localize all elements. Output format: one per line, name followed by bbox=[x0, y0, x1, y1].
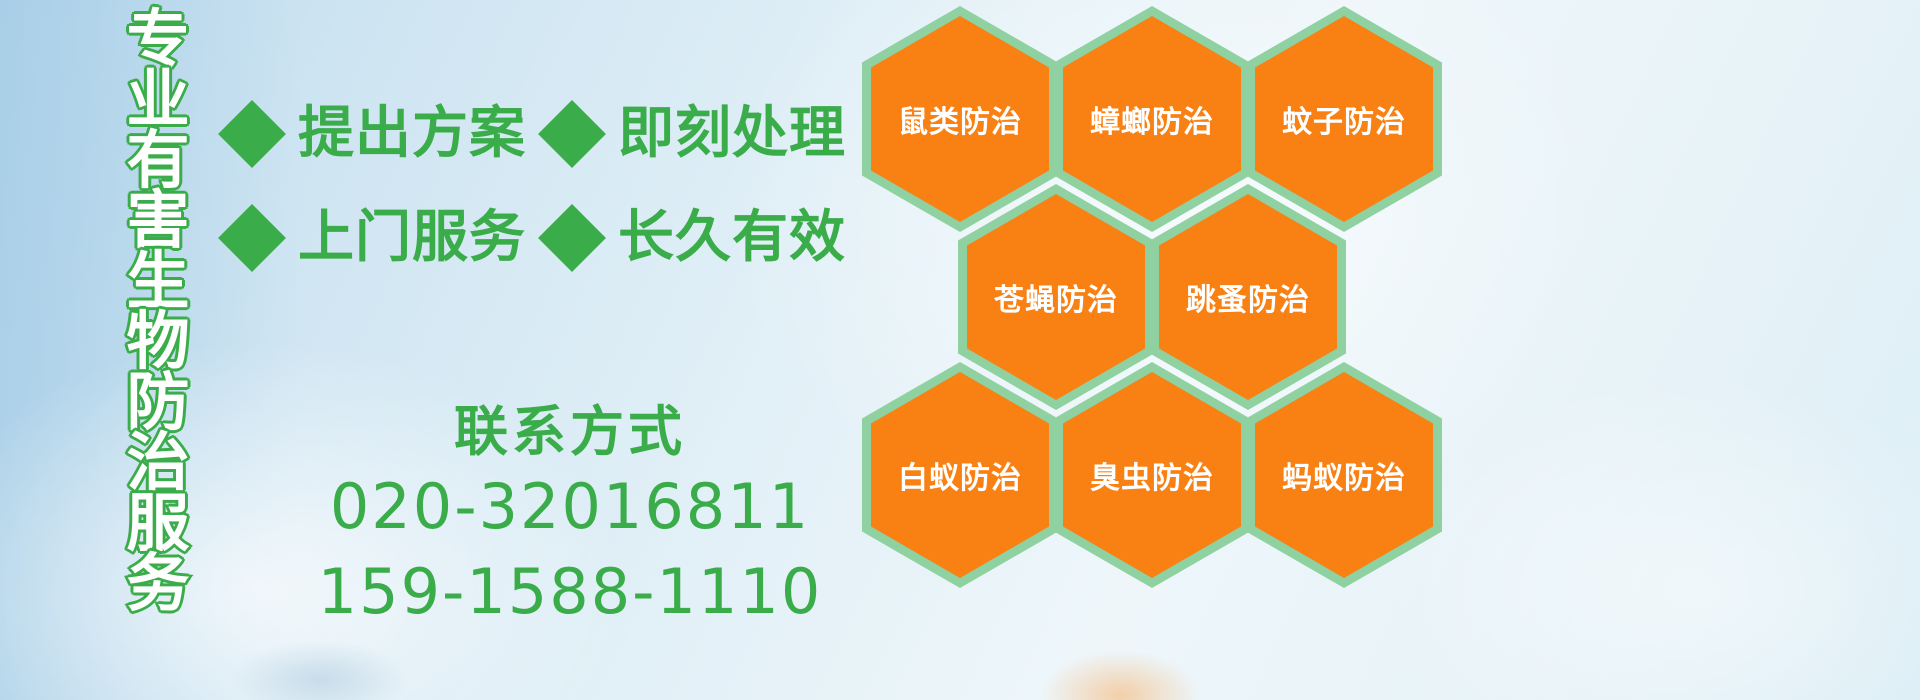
service-hexagon-grid: 鼠类防治 蟑螂防治 蚊子防治 苍蝇防治 跳蚤防治 bbox=[862, 6, 1462, 566]
diamond-icon bbox=[218, 204, 286, 272]
slogan-label: 上门服务 bbox=[298, 210, 526, 266]
background-bottom-blob-right bbox=[1040, 650, 1200, 700]
diamond-icon bbox=[538, 100, 606, 168]
diamond-icon bbox=[218, 100, 286, 168]
slogan-item: 提出方案 bbox=[228, 106, 526, 162]
vertical-title-char: 专 bbox=[127, 10, 190, 70]
service-hexagon[interactable]: 蚂蚁防治 bbox=[1246, 362, 1442, 588]
slogan-item: 长久有效 bbox=[548, 210, 846, 266]
contact-phone-mobile[interactable]: 159-1588-1110 bbox=[300, 549, 840, 635]
slogan-label: 提出方案 bbox=[298, 106, 526, 162]
slogan-block: 提出方案 即刻处理 上门服务 长久有效 bbox=[228, 82, 868, 290]
service-label: 跳蚤防治 bbox=[1186, 275, 1310, 319]
slogan-row: 提出方案 即刻处理 bbox=[228, 82, 868, 186]
service-label: 鼠类防治 bbox=[898, 97, 1022, 141]
contact-phone-landline[interactable]: 020-32016811 bbox=[300, 464, 840, 550]
vertical-title-char: 服 bbox=[127, 494, 190, 554]
service-label: 蟑螂防治 bbox=[1090, 97, 1214, 141]
service-label: 苍蝇防治 bbox=[994, 275, 1118, 319]
slogan-item: 即刻处理 bbox=[548, 106, 846, 162]
vertical-title-char: 业 bbox=[127, 70, 190, 130]
service-label: 蚂蚁防治 bbox=[1282, 453, 1406, 497]
vertical-title-char: 物 bbox=[127, 312, 190, 372]
slogan-item: 上门服务 bbox=[228, 210, 526, 266]
service-label: 白蚁防治 bbox=[898, 453, 1022, 497]
service-label: 臭虫防治 bbox=[1090, 453, 1214, 497]
diamond-icon bbox=[538, 204, 606, 272]
vertical-title-char: 生 bbox=[127, 252, 190, 312]
service-hexagon[interactable]: 臭虫防治 bbox=[1054, 362, 1250, 588]
service-label: 蚊子防治 bbox=[1282, 97, 1406, 141]
contact-title: 联系方式 bbox=[300, 400, 840, 464]
background-bottom-blob-left bbox=[230, 640, 410, 700]
vertical-title: 专 业 有 害 生 物 防 治 服 务 bbox=[108, 10, 208, 570]
vertical-title-char: 有 bbox=[127, 131, 190, 191]
pest-control-banner: 专 业 有 害 生 物 防 治 服 务 提出方案 即刻处理 上门服务 bbox=[0, 0, 1920, 700]
service-hexagon-row: 白蚁防治 臭虫防治 蚂蚁防治 bbox=[862, 362, 1438, 588]
vertical-title-char: 防 bbox=[127, 373, 190, 433]
vertical-title-char: 治 bbox=[127, 433, 190, 493]
vertical-title-char: 害 bbox=[127, 191, 190, 251]
slogan-row: 上门服务 长久有效 bbox=[228, 186, 868, 290]
slogan-label: 长久有效 bbox=[618, 210, 846, 266]
contact-block: 联系方式 020-32016811 159-1588-1110 bbox=[300, 400, 840, 635]
service-hexagon[interactable]: 白蚁防治 bbox=[862, 362, 1058, 588]
slogan-label: 即刻处理 bbox=[618, 106, 846, 162]
vertical-title-char: 务 bbox=[127, 554, 190, 614]
